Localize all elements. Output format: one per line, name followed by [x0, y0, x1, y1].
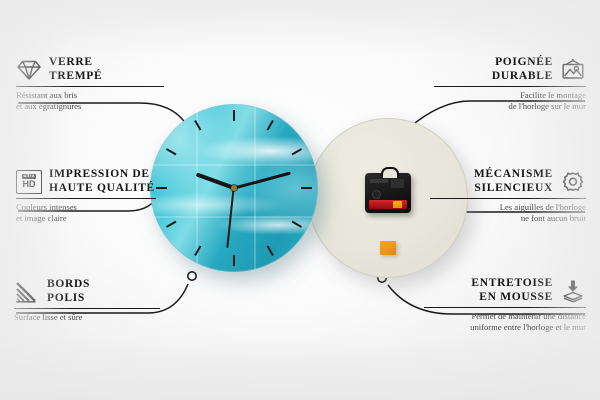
callout-title: BORDSPOLIS	[47, 278, 90, 305]
callout-verre-trempe[interactable]: VERRETREMPÉ Résistant aux briset aux égr…	[16, 56, 166, 111]
callout-rule	[430, 198, 586, 199]
callout-description: Résistant aux briset aux égratignures	[16, 90, 166, 111]
clock-tick	[301, 187, 312, 189]
mechanism-label	[370, 179, 388, 183]
callout-title: MÉCANISMESILENCIEUX	[474, 168, 553, 195]
callout-description: Les aiguilles de l'horlogene font aucun …	[430, 202, 586, 223]
polished-edges-icon	[14, 280, 40, 304]
gear-icon	[560, 170, 586, 194]
callout-description: Facilite le montagede l'horloge sur le m…	[434, 90, 586, 111]
callout-poignee-durable[interactable]: POIGNÉEDURABLE Facilite le montagede l'h…	[434, 56, 586, 111]
clock-tick	[233, 255, 235, 266]
callout-title: POIGNÉEDURABLE	[492, 56, 553, 83]
callout-rule	[16, 86, 164, 87]
panel-seam	[150, 216, 318, 218]
mechanism-module	[391, 179, 404, 188]
center-cap	[231, 185, 237, 191]
panel-seam	[254, 104, 256, 272]
ultra-hd-icon: ultra HD	[16, 170, 42, 194]
callout-entretoise-en-mousse[interactable]: ENTRETOISEEN MOUSSE Permet de maintenir …	[424, 277, 586, 332]
foam-spacer	[380, 241, 396, 255]
callout-rule	[16, 198, 156, 199]
callout-mecanisme-silencieux[interactable]: MÉCANISMESILENCIEUX Les aiguilles de l'h…	[430, 168, 586, 223]
clock-tick	[233, 110, 235, 121]
callout-rule	[434, 86, 586, 87]
callout-description: Permet de maintenir une distanceuniforme…	[424, 311, 586, 332]
picture-hanger-icon	[560, 58, 586, 82]
callout-title: IMPRESSION DEHAUTE QUALITÉ	[49, 168, 155, 195]
callout-rule	[424, 307, 586, 308]
clock-mechanism	[365, 173, 411, 213]
panel-seam	[150, 164, 318, 166]
connector-dot-bords-polis	[188, 272, 196, 280]
callout-impression-haute-qualite[interactable]: ultra HD IMPRESSION DEHAUTE QUALITÉ Coul…	[16, 168, 164, 223]
callout-rule	[14, 308, 160, 309]
callout-title: ENTRETOISEEN MOUSSE	[471, 277, 553, 304]
diamond-icon	[16, 58, 42, 82]
callout-title: VERRETREMPÉ	[49, 56, 102, 83]
infographic-canvas: VERRETREMPÉ Résistant aux briset aux égr…	[0, 0, 600, 400]
foam-spacer-icon	[560, 279, 586, 303]
glass-wall-clock-front	[150, 104, 318, 272]
battery	[369, 200, 407, 209]
mechanism-knob	[372, 190, 381, 199]
callout-bords-polis[interactable]: BORDSPOLIS Surface lisse et sûre	[14, 278, 164, 323]
callout-description: Couleurs intenseset image claire	[16, 202, 164, 223]
callout-description: Surface lisse et sûre	[14, 312, 164, 323]
